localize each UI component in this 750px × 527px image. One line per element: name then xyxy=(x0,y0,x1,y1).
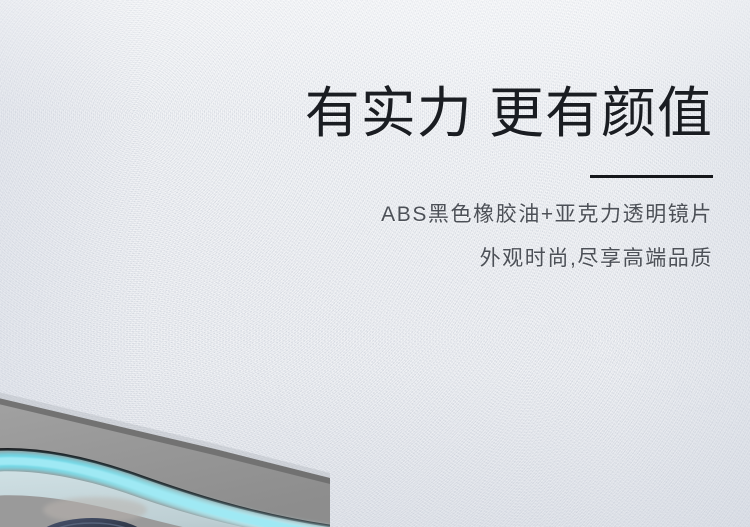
subtitle-line-1: ABS黑色橡胶油+亚克力透明镜片 xyxy=(0,178,713,226)
copy-block: 有实力 更有颜值 ABS黑色橡胶油+亚克力透明镜片 外观时尚,尽享高端品质 xyxy=(0,0,713,270)
headline: 有实力 更有颜值 xyxy=(0,0,713,144)
subtitle-line-2: 外观时尚,尽享高端品质 xyxy=(0,226,713,270)
product-photo xyxy=(0,392,330,527)
promo-banner: 有实力 更有颜值 ABS黑色橡胶油+亚克力透明镜片 外观时尚,尽享高端品质 xyxy=(0,0,750,527)
divider-rule xyxy=(590,175,713,178)
product-illustration xyxy=(0,392,330,527)
